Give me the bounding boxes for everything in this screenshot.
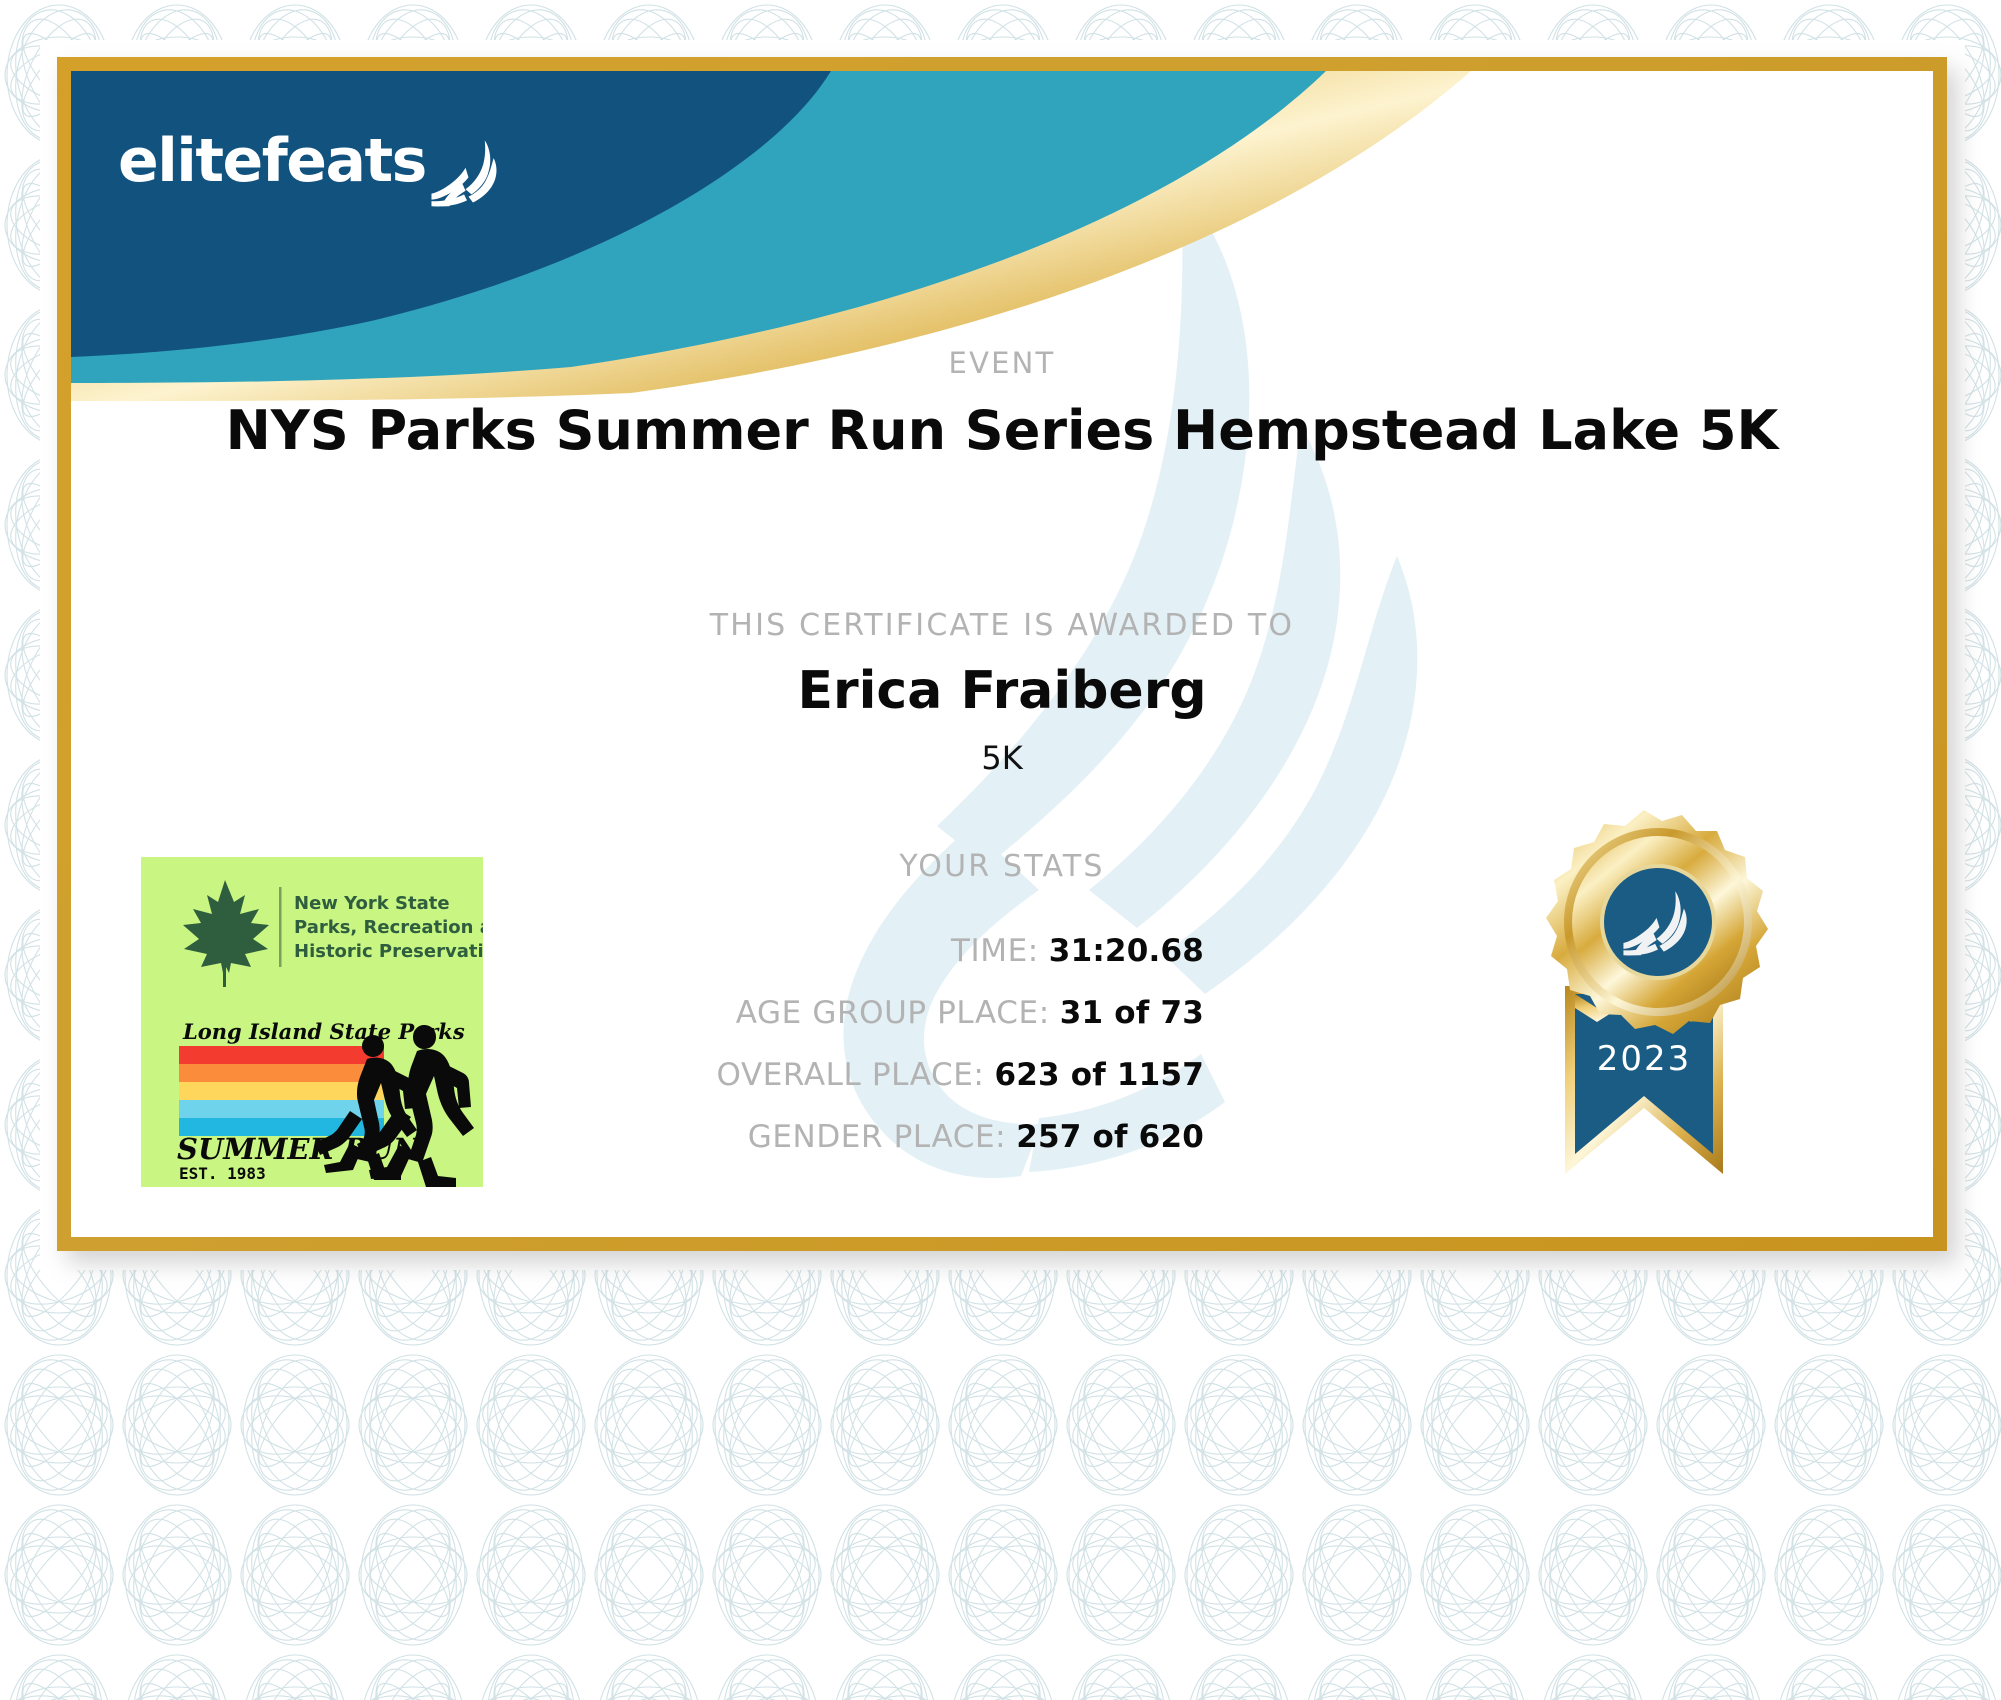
- stat-value-overall-place: 623 of 1157: [994, 1057, 1204, 1093]
- stat-value-time: 31:20.68: [1049, 933, 1204, 969]
- winged-foot-icon: [430, 133, 504, 207]
- stat-label-time: TIME:: [951, 933, 1039, 969]
- stat-label-gender-place: GENDER PLACE:: [748, 1119, 1006, 1155]
- awarded-to-label: THIS CERTIFICATE IS AWARDED TO: [71, 608, 1933, 643]
- finisher-medal-icon: 2023: [1479, 798, 1809, 1237]
- stat-label-age-group-place: AGE GROUP PLACE:: [736, 995, 1050, 1031]
- certificate-root: elitefeats EVENT NYS Parks Summer Run Se…: [0, 0, 2001, 1700]
- stat-label-overall-place: OVERALL PLACE:: [716, 1057, 984, 1093]
- svg-text:Historic Preservation: Historic Preservation: [294, 941, 483, 962]
- recipient-division: 5K: [71, 739, 1933, 777]
- event-label: EVENT: [71, 346, 1933, 380]
- finisher-badge: 2023: [1449, 798, 1839, 1237]
- sponsor-logo: New York State Parks, Recreation and His…: [141, 857, 483, 1187]
- gold-border-frame: elitefeats EVENT NYS Parks Summer Run Se…: [57, 57, 1947, 1251]
- stat-value-gender-place: 257 of 620: [1016, 1119, 1204, 1155]
- brand-wordmark: elitefeats: [118, 131, 426, 191]
- svg-text:New York State: New York State: [294, 893, 450, 914]
- sponsor-logo-art: New York State Parks, Recreation and His…: [141, 857, 483, 1187]
- certificate-content: EVENT NYS Parks Summer Run Series Hempst…: [71, 71, 1933, 1237]
- event-title: NYS Parks Summer Run Series Hempstead La…: [71, 399, 1933, 462]
- elitefeats-logo: elitefeats: [118, 131, 504, 191]
- badge-year: 2023: [1597, 1039, 1692, 1079]
- certificate-paper: elitefeats EVENT NYS Parks Summer Run Se…: [71, 71, 1933, 1237]
- svg-text:EST. 1983: EST. 1983: [179, 1164, 266, 1183]
- recipient-name: Erica Fraiberg: [71, 661, 1933, 721]
- svg-text:Parks, Recreation and: Parks, Recreation and: [294, 917, 483, 938]
- stat-value-age-group-place: 31 of 73: [1060, 995, 1204, 1031]
